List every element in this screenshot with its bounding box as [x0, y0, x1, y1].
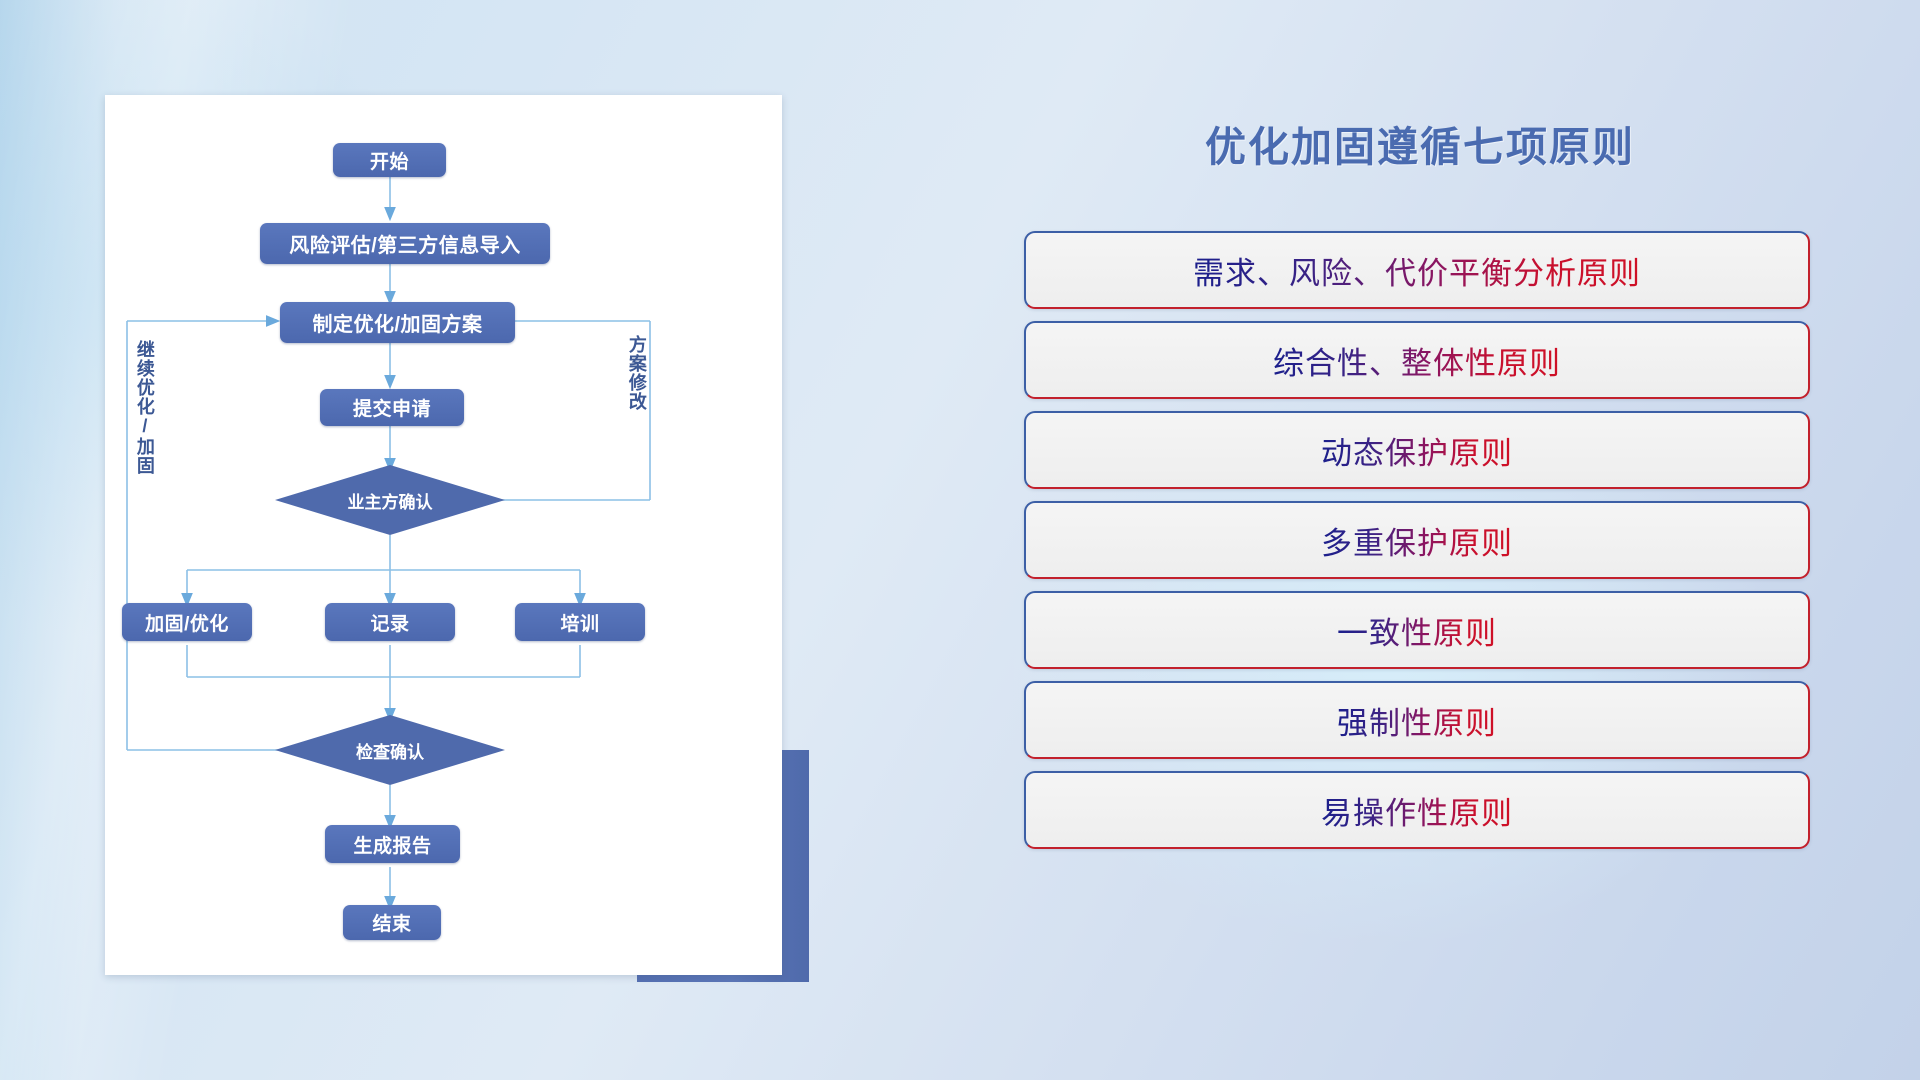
flow-edge-label-plan-revision-text: 方案修改	[627, 335, 647, 411]
flow-node-training[interactable]: 培训	[515, 603, 645, 641]
flow-node-start-label: 开始	[370, 147, 409, 174]
flow-node-plan-label: 制定优化/加固方案	[312, 308, 482, 337]
flow-node-end[interactable]: 结束	[343, 905, 441, 940]
flow-node-start[interactable]: 开始	[333, 143, 446, 177]
flowchart-canvas: 开始 风险评估/第三方信息导入 制定优化/加固方案 提交申请 业主方确认 加固/…	[105, 95, 782, 975]
flow-node-end-label: 结束	[372, 909, 411, 936]
principle-card-1-label: 需求、风险、代价平衡分析原则	[1193, 248, 1641, 293]
principles-title: 优化加固遵循七项原则	[1020, 113, 1820, 173]
flow-edge-label-plan-revision: 方案修改	[627, 335, 646, 445]
flowchart-panel: 开始 风险评估/第三方信息导入 制定优化/加固方案 提交申请 业主方确认 加固/…	[105, 95, 782, 975]
flow-node-owner-confirm-label: 业主方确认	[348, 488, 433, 513]
flow-edge-label-continue-optimize-text: 继续优化/加固	[135, 340, 155, 475]
principle-card-7[interactable]: 易操作性原则	[1024, 771, 1810, 849]
flow-node-check-confirm-label: 检查确认	[356, 738, 424, 763]
principle-card-6[interactable]: 强制性原则	[1024, 681, 1810, 759]
principle-card-1[interactable]: 需求、风险、代价平衡分析原则	[1024, 231, 1810, 309]
flow-node-submit-application-label: 提交申请	[353, 394, 431, 421]
flow-node-generate-report-label: 生成报告	[353, 831, 431, 858]
flow-node-generate-report[interactable]: 生成报告	[325, 825, 460, 863]
flow-node-owner-confirm[interactable]: 业主方确认	[275, 465, 505, 535]
flow-node-plan[interactable]: 制定优化/加固方案	[280, 302, 515, 343]
principles-pane: 优化加固遵循七项原则 需求、风险、代价平衡分析原则 综合性、整体性原则 动态保护…	[1020, 95, 1820, 995]
principle-card-4-label: 多重保护原则	[1321, 518, 1513, 563]
flow-node-check-confirm[interactable]: 检查确认	[275, 715, 505, 785]
principle-card-2[interactable]: 综合性、整体性原则	[1024, 321, 1810, 399]
flow-node-training-label: 培训	[560, 609, 599, 636]
flow-node-reinforce[interactable]: 加固/优化	[122, 603, 252, 641]
flow-node-record[interactable]: 记录	[325, 603, 455, 641]
principle-card-7-label: 易操作性原则	[1321, 788, 1513, 833]
principle-card-5-label: 一致性原则	[1337, 608, 1497, 653]
flow-node-record-label: 记录	[370, 609, 409, 636]
flow-node-submit-application[interactable]: 提交申请	[320, 389, 464, 426]
principle-card-3-label: 动态保护原则	[1321, 428, 1513, 473]
flow-node-risk-assessment-label: 风险评估/第三方信息导入	[289, 229, 521, 258]
flow-node-risk-assessment[interactable]: 风险评估/第三方信息导入	[260, 223, 550, 264]
principle-card-3[interactable]: 动态保护原则	[1024, 411, 1810, 489]
principle-card-5[interactable]: 一致性原则	[1024, 591, 1810, 669]
flow-edge-label-continue-optimize: 继续优化/加固	[135, 340, 154, 510]
principle-card-4[interactable]: 多重保护原则	[1024, 501, 1810, 579]
principle-card-2-label: 综合性、整体性原则	[1273, 338, 1561, 383]
principle-card-6-label: 强制性原则	[1337, 698, 1497, 743]
flow-node-reinforce-label: 加固/优化	[145, 609, 229, 636]
